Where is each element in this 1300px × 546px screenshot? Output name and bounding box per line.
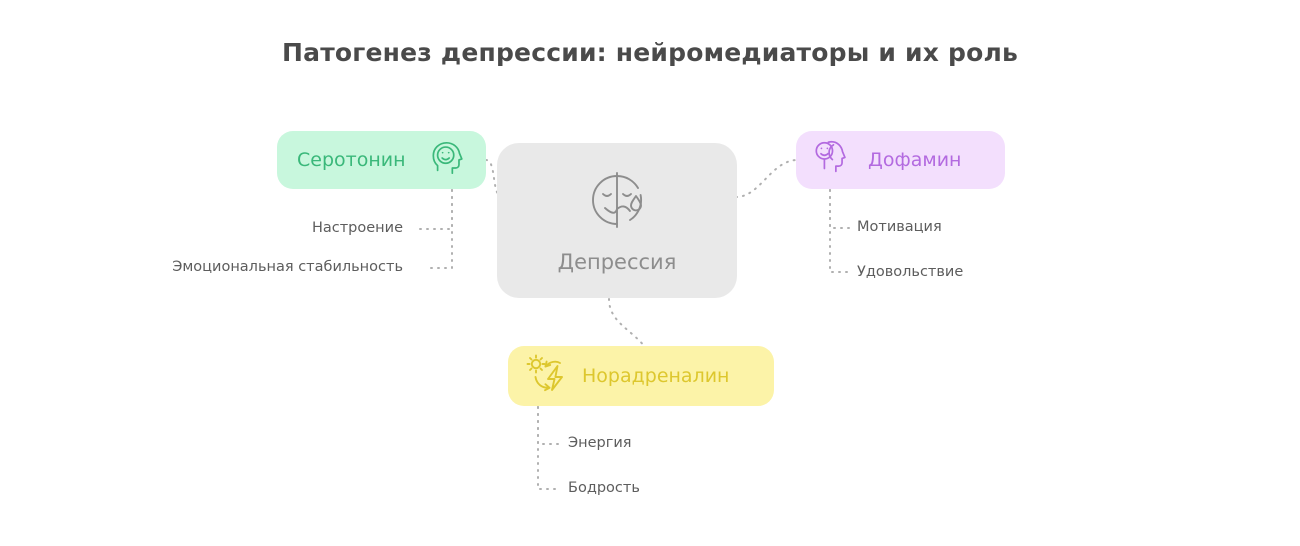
- connector-serotonin-leaf-emotional: [430, 190, 452, 268]
- connector-dopamine-leaf-pleasure: [830, 190, 850, 272]
- leaf-serotonin-emotional-stability: Эмоциональная стабильность: [172, 259, 403, 275]
- page-title: Патогенез депрессии: нейромедиаторы и их…: [0, 38, 1300, 67]
- node-noradrenaline[interactable]: Норадреналин: [508, 346, 774, 406]
- sun-lightning-energy-icon: [524, 352, 568, 400]
- node-serotonin-label: Серотонин: [297, 149, 406, 171]
- node-center-depression[interactable]: Депрессия: [497, 143, 737, 298]
- connector-noradrenaline-leaf-vigor: [538, 407, 561, 489]
- head-with-smiley-face-icon: [812, 137, 854, 183]
- half-happy-half-sad-face-icon: [585, 168, 649, 236]
- connector-dopamine-leaf-motivation: [830, 190, 850, 228]
- leaf-serotonin-mood: Настроение: [312, 220, 403, 236]
- node-center-label: Депрессия: [558, 250, 677, 274]
- node-serotonin[interactable]: Серотонин: [277, 131, 486, 189]
- node-dopamine-label: Дофамин: [868, 149, 961, 171]
- mindmap-canvas: Патогенез депрессии: нейромедиаторы и их…: [0, 0, 1300, 546]
- node-noradrenaline-label: Норадреналин: [582, 365, 729, 387]
- leaf-dopamine-motivation: Мотивация: [857, 219, 942, 235]
- leaf-dopamine-pleasure: Удовольствие: [857, 264, 963, 280]
- leaf-noradrenaline-vigor: Бодрость: [568, 480, 640, 496]
- connector-serotonin-leaf-mood: [418, 190, 452, 229]
- connector-center-dopamine: [736, 160, 796, 197]
- connector-noradrenaline-leaf-energy: [538, 407, 561, 444]
- connector-center-noradrenaline: [609, 299, 645, 347]
- head-with-smiley-face-icon: [430, 139, 468, 181]
- node-dopamine[interactable]: Дофамин: [796, 131, 1005, 189]
- leaf-noradrenaline-energy: Энергия: [568, 435, 632, 451]
